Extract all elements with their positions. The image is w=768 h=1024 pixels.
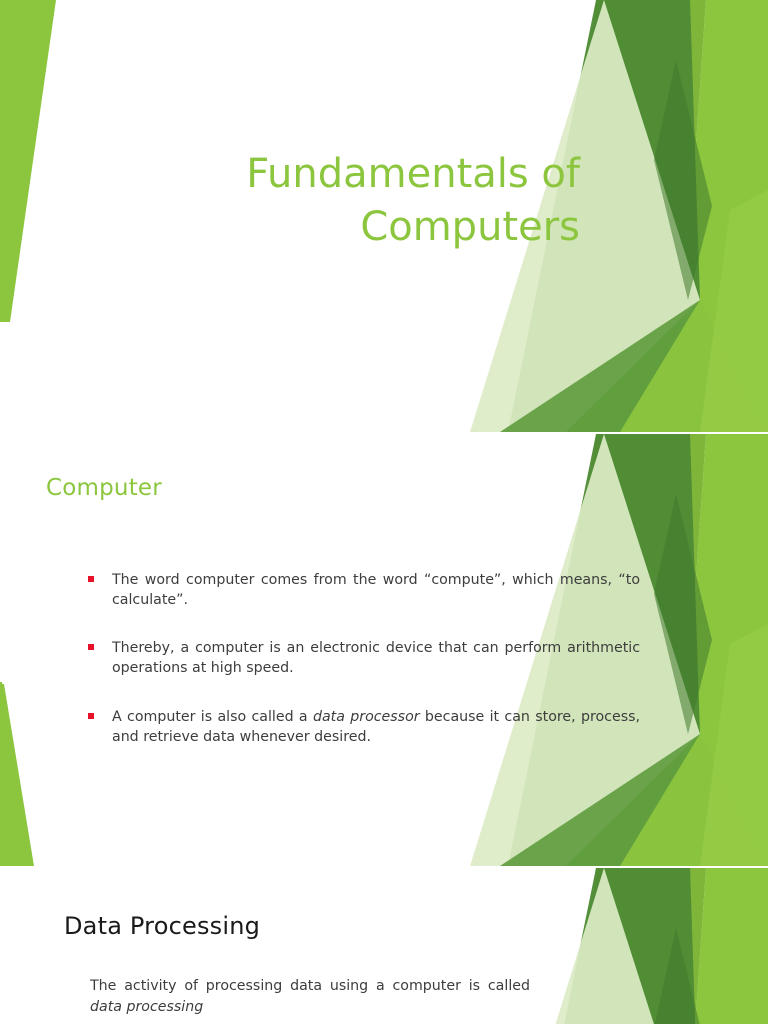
bullet-square-icon — [88, 576, 94, 582]
slide-deck: Fundamentals of Computers — [0, 0, 768, 1024]
bullet-text-pre: The word computer comes from the word “c… — [112, 572, 640, 608]
bullet-text: The word computer comes from the word “c… — [112, 572, 640, 608]
slide-heading-computer: Computer — [46, 475, 162, 503]
bullet-text-italic: data processor — [313, 709, 420, 725]
slide-computer: Computer The word computer comes from th… — [0, 434, 768, 866]
bullet-text: A computer is also called a data process… — [112, 709, 640, 745]
list-item: The word computer comes from the word “c… — [84, 570, 640, 610]
bullet-square-icon — [88, 713, 94, 719]
body-paragraph-pre: The activity of processing data using a … — [90, 978, 530, 994]
left-green-wedge-slide1 — [0, 0, 90, 432]
title-block: Fundamentals of Computers — [120, 148, 580, 254]
bullet-text-pre: A computer is also called a — [112, 709, 313, 725]
list-item: Thereby, a computer is an electronic dev… — [84, 638, 640, 678]
page-title: Fundamentals of Computers — [120, 148, 580, 254]
body-paragraph: The activity of processing data using a … — [90, 976, 530, 1017]
slide-data-processing: Data Processing The activity of processi… — [0, 868, 768, 1024]
bullet-square-icon — [88, 644, 94, 650]
slide-heading-data-processing: Data Processing — [64, 912, 260, 941]
body-paragraph-italic: data processing — [90, 999, 203, 1015]
bullet-list: The word computer comes from the word “c… — [84, 570, 640, 747]
bullet-text: Thereby, a computer is an electronic dev… — [112, 640, 640, 676]
list-item: A computer is also called a data process… — [84, 707, 640, 747]
slide-title: Fundamentals of Computers — [0, 0, 768, 432]
bullet-text-pre: Thereby, a computer is an electronic dev… — [112, 640, 640, 676]
